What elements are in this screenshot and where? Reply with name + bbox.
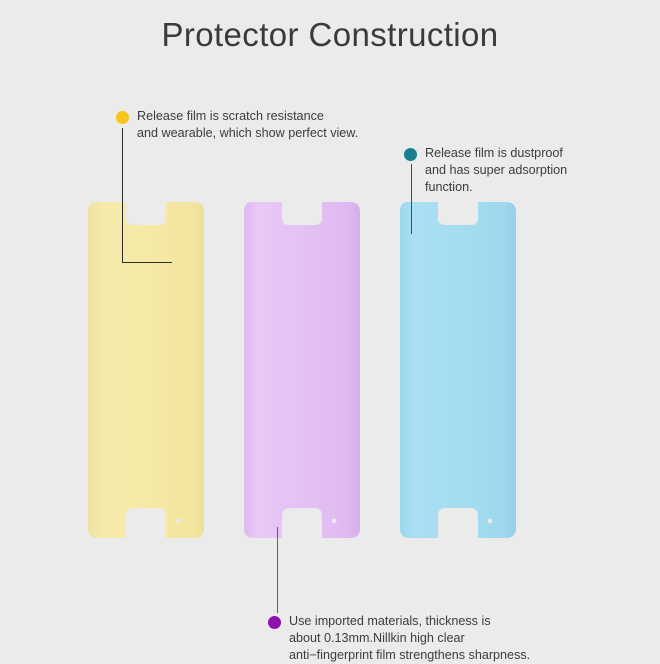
leader-line-materials-vertical	[277, 527, 278, 613]
callout-line: about 0.13mm.Nillkin high clear	[289, 630, 530, 647]
bullet-dot-icon-teal	[404, 148, 417, 161]
bullet-dot-icon-purple	[268, 616, 281, 629]
screen-protector-film-purple	[238, 196, 366, 544]
callout-line: function.	[425, 179, 567, 196]
callout-line: Release film is dustproof	[425, 145, 567, 162]
callout-line: and has super adsorption	[425, 162, 567, 179]
callout-text-dustproof: Release film is dustproof and has super …	[425, 145, 567, 196]
callout-line: anti−fingerprint film strengthens sharpn…	[289, 647, 530, 664]
page-title: Protector Construction	[0, 14, 660, 56]
bullet-dot-icon-yellow	[116, 111, 129, 124]
leader-line-scratch-horizontal	[122, 262, 172, 263]
callout-text-materials: Use imported materials, thickness is abo…	[289, 613, 530, 664]
screen-protector-film-yellow	[82, 196, 210, 544]
callout-text-scratch: Release film is scratch resistance and w…	[137, 108, 358, 142]
illustration-canvas: Protector Construction	[0, 0, 660, 660]
callout-line: and wearable, which show perfect view.	[137, 125, 358, 142]
callout-line: Release film is scratch resistance	[137, 108, 358, 125]
leader-line-scratch-vertical	[122, 128, 123, 263]
screen-protector-film-blue	[394, 196, 522, 544]
leader-line-dustproof-vertical	[411, 164, 412, 234]
callout-line: Use imported materials, thickness is	[289, 613, 530, 630]
